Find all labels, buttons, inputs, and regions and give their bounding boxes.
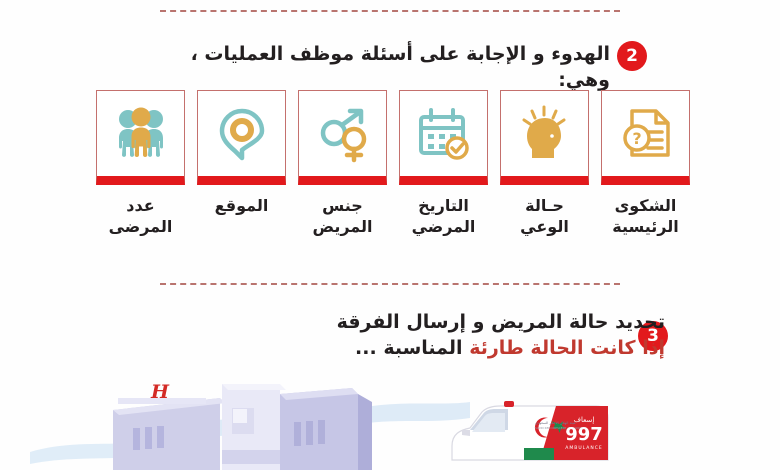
group-of-people-icon [112,105,170,163]
question-cards-row: ? [96,90,690,185]
section-2-heading: الهدوء و الإجابة على أسئلة موظف العمليات… [170,42,610,93]
label-consciousness-state: حـالة الوعي [500,196,589,238]
card-location[interactable] [197,90,286,185]
label-location: الموقع [197,196,286,238]
gender-symbols-icon [314,105,372,163]
section-3-heading-line-1: تحديد حالة المريض و إرسال الفرقة [337,311,665,333]
section-3-emergency-condition-text: إذا كانت الحالة طارئة [469,337,665,359]
label-medical-history: التاريخ المرضي [399,196,488,238]
hospital-building: H [113,381,372,470]
location-pin-icon [215,105,269,163]
card-number-of-patients[interactable] [96,90,185,185]
head-awareness-icon [516,105,574,163]
ambulance-number: 997 [565,424,603,445]
section-3-heading-line-2: إذا كانت الحالة طارئة المناسبة ... [150,336,665,362]
dashed-separator-middle [160,283,620,285]
section-3-heading: تحديد حالة المريض و إرسال الفرقة إذا كان… [150,310,665,361]
card-chief-complaint[interactable]: ? [601,90,690,185]
card-consciousness-state[interactable] [500,90,589,185]
saudi-red-crescent-ambulance: هيئة الهلال الأحمر السعودي SAUDI RED CRE… [452,401,608,460]
label-chief-complaint: الشكوى الرئيسية [601,196,690,238]
step-badge-2: 2 [617,41,647,71]
dashed-separator-top [160,10,620,12]
label-number-of-patients: عدد المرضى [96,196,185,238]
card-medical-history-date[interactable] [399,90,488,185]
illustration-svg: H [0,372,780,470]
section-3-appropriate-text: المناسبة ... [355,337,463,359]
infographic-page: 2 الهدوء و الإجابة على أسئلة موظف العملي… [0,0,780,470]
bottom-illustration: H [0,372,780,470]
ambulance-arabic-label: إسعاف [574,416,595,424]
calendar-check-icon [415,106,473,162]
question-labels-row: عدد المرضى الموقع جنس المريض التاريخ الم… [96,196,690,238]
ambulance-latin-label: AMBULANCE [565,445,602,451]
question-document-icon: ? [618,105,674,163]
hospital-h-sign: H [150,381,170,403]
label-patient-gender: جنس المريض [298,196,387,238]
svg-text:?: ? [632,129,641,148]
card-patient-gender[interactable] [298,90,387,185]
